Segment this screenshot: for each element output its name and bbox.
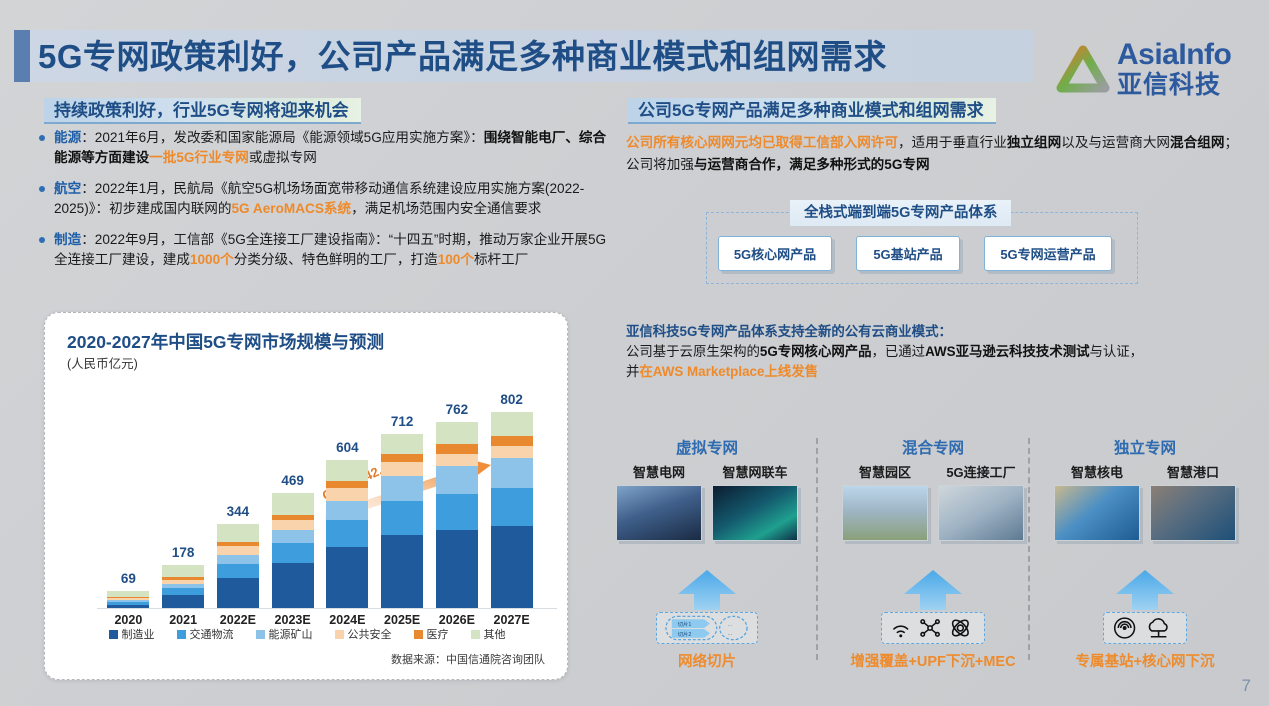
chart-x-axis	[97, 608, 557, 609]
legend-label: 其他	[484, 629, 506, 641]
bullet-lead: 制造	[54, 232, 81, 247]
logo-wordmark: AsiaInfo 亚信科技	[1117, 39, 1231, 99]
coverage-upf-mec-icons	[890, 616, 976, 640]
column-title: 虚拟专网	[604, 436, 810, 458]
thumbnail-caption: 智慧港口	[1150, 462, 1236, 481]
chart-legend: 制造业交通物流能源矿山公共安全医疗其他	[45, 625, 569, 643]
thumbnail-caption: 智慧电网	[616, 462, 702, 481]
header-accent-tab	[14, 30, 30, 82]
chart-bar-2024E: 604	[326, 460, 368, 608]
bar-segment-其他	[162, 565, 204, 578]
product-box-operations[interactable]: 5G专网运营产品	[984, 236, 1112, 271]
bar-value-label: 604	[312, 440, 382, 455]
chart-bar-2021: 178	[162, 565, 204, 608]
bar-segment-制造业	[491, 526, 533, 608]
bar-segment-交通物流	[326, 520, 368, 547]
bullet-text: 能源：2021年6月，发改委和国家能源局《能源领域5G应用实施方案》：围绕智能电…	[54, 130, 606, 165]
product-box-base-station[interactable]: 5G基站产品	[856, 236, 960, 271]
chart-bar-2026E: 762	[436, 422, 478, 608]
bar-segment-制造业	[162, 595, 204, 608]
thumbnail-item[interactable]: 智慧核电	[1054, 462, 1140, 541]
bar-segment-公共安全	[272, 520, 314, 530]
chart-title: 2020-2027年中国5G专网市场规模与预测	[67, 329, 384, 354]
up-arrow-icon	[1114, 570, 1176, 610]
bullet-dot	[39, 237, 45, 243]
policy-bullet-0: 能源：2021年6月，发改委和国家能源局《能源领域5G应用实施方案》：围绕智能电…	[30, 128, 615, 168]
cloud-line-3: 并在AWS Marketplace上线发售	[626, 362, 1238, 382]
bar-value-label: 178	[148, 545, 218, 560]
stacked-bar	[272, 493, 314, 608]
bar-segment-制造业	[381, 535, 423, 608]
legend-label: 能源矿山	[269, 629, 313, 641]
bar-segment-公共安全	[217, 546, 259, 555]
bar-segment-制造业	[217, 578, 259, 608]
thumbnail-item[interactable]: 智慧电网	[616, 462, 702, 541]
stacked-bar	[381, 434, 423, 608]
cloud-line-2: 公司基于云原生架构的5G专网核心网产品，已通过AWS亚马逊云科技技术测试与认证，	[626, 342, 1238, 362]
stacked-bar	[217, 524, 259, 608]
smart-factory-photo	[938, 485, 1024, 541]
bar-segment-制造业	[326, 547, 368, 608]
column-thumbnails: 智慧核电智慧港口	[1054, 462, 1236, 541]
legend-label: 公共安全	[348, 629, 392, 641]
bar-segment-交通物流	[272, 543, 314, 564]
chart-source-note: 数据来源：中国信通院咨询团队	[391, 651, 545, 667]
bar-segment-交通物流	[217, 564, 259, 578]
stacked-bar	[436, 422, 478, 608]
left-section-heading: 持续政策利好，行业5G专网将迎来机会	[44, 98, 361, 124]
network-slicing-icon-box[interactable]: 切片1切片2......	[656, 612, 758, 644]
chart-bar-2020: 69	[107, 591, 149, 608]
bar-segment-医疗	[436, 444, 478, 454]
network-column-2: 独立专网智慧核电智慧港口专属基站+核心网下沉	[1042, 436, 1248, 458]
legend-item-交通物流: 交通物流	[177, 626, 234, 642]
legend-swatch	[335, 630, 344, 639]
policy-bullet-list: 能源：2021年6月，发改委和国家能源局《能源领域5G应用实施方案》：围绕智能电…	[30, 128, 615, 281]
bar-segment-其他	[217, 524, 259, 542]
bullet-text: 制造：2022年9月，工信部《5G全连接工厂建设指南》：“十四五”时期，推动万家…	[54, 232, 606, 267]
slide-header: 5G专网政策利好，公司产品满足多种商业模式和组网需求 AsiaInfo 亚信科技	[0, 22, 1269, 90]
chart-bar-2022E: 344	[217, 524, 259, 608]
bar-segment-制造业	[272, 563, 314, 608]
bar-value-label: 344	[203, 504, 273, 519]
network-slicing-icon: 切片1切片2......	[665, 615, 749, 641]
legend-item-公共安全: 公共安全	[335, 626, 392, 642]
thumbnail-caption: 5G连接工厂	[938, 462, 1024, 481]
legend-label: 交通物流	[190, 629, 234, 641]
product-system-title: 全栈式端到端5G专网产品体系	[790, 200, 1011, 226]
bar-segment-能源矿山	[491, 458, 533, 488]
basestation-corenetwork-icons	[1112, 616, 1178, 640]
legend-item-其他: 其他	[471, 626, 506, 642]
right-section-heading: 公司5G专网产品满足多种商业模式和组网需求	[628, 98, 996, 124]
bar-segment-公共安全	[491, 446, 533, 458]
stacked-bar	[162, 565, 204, 608]
bar-segment-能源矿山	[436, 466, 478, 493]
column-footer-label: 网络切片	[604, 650, 810, 671]
asiainfo-logo: AsiaInfo 亚信科技	[1055, 40, 1260, 102]
thumbnail-caption: 智慧园区	[842, 462, 928, 481]
svg-text:...: ...	[728, 631, 733, 637]
bar-segment-能源矿山	[381, 476, 423, 501]
bullet-text: 航空：2022年1月，民航局《航空5G机场场面宽带移动通信系统建设应用实施方案(…	[54, 181, 584, 216]
column-thumbnails: 智慧电网智慧网联车	[616, 462, 798, 541]
network-type-columns: 虚拟专网智慧电网智慧网联车切片1切片2......网络切片混合专网智慧园区5G连…	[604, 436, 1248, 684]
bar-value-label: 802	[477, 392, 547, 407]
thumbnail-item[interactable]: 智慧园区	[842, 462, 928, 541]
svg-text:切片2: 切片2	[678, 630, 692, 638]
stacked-bar	[491, 412, 533, 608]
network-column-1: 混合专网智慧园区5G连接工厂增强覆盖+UPF下沉+MEC	[830, 436, 1036, 458]
bar-segment-交通物流	[162, 588, 204, 595]
chart-bar-2027E: 802	[491, 412, 533, 608]
legend-label: 制造业	[122, 629, 155, 641]
column-thumbnails: 智慧园区5G连接工厂	[842, 462, 1024, 541]
legend-item-能源矿山: 能源矿山	[256, 626, 313, 642]
legend-swatch	[256, 630, 265, 639]
bar-segment-公共安全	[326, 488, 368, 502]
cloud-l2-b: 5G专网核心网产品	[760, 344, 872, 359]
logo-text-cn: 亚信科技	[1117, 71, 1231, 99]
bar-segment-其他	[491, 412, 533, 436]
cloud-l3-b: 在AWS Marketplace上线发售	[639, 364, 818, 379]
bar-segment-医疗	[491, 436, 533, 446]
legend-label: 医疗	[427, 629, 449, 641]
coverage-upf-mec-icons-box[interactable]	[881, 612, 985, 644]
cloud-l2-a: 公司基于云原生架构的	[626, 344, 760, 359]
bar-segment-能源矿山	[217, 555, 259, 564]
chart-bar-2025E: 712	[381, 434, 423, 608]
bullet-lead: 航空	[54, 181, 81, 196]
chart-subtitle: (人民币亿元)	[67, 353, 138, 372]
cloud-l2-c: ，已通过	[872, 344, 926, 359]
legend-item-制造业: 制造业	[109, 626, 155, 642]
stacked-bar	[326, 460, 368, 608]
column-footer-label: 增强覆盖+UPF下沉+MEC	[830, 650, 1036, 671]
bar-segment-制造业	[436, 530, 478, 608]
page-number: 7	[1242, 676, 1251, 696]
network-column-0: 虚拟专网智慧电网智慧网联车切片1切片2......网络切片	[604, 436, 810, 458]
smart-campus-photo	[842, 485, 928, 541]
bar-segment-交通物流	[381, 501, 423, 535]
logo-text-en: AsiaInfo	[1117, 39, 1231, 71]
bar-value-label: 69	[93, 571, 163, 586]
right-intro-paragraph: 公司所有核心网网元均已取得工信部入网许可，适用于垂直行业独立组网以及与运营商大网…	[626, 132, 1238, 176]
thumbnail-caption: 智慧核电	[1054, 462, 1140, 481]
bullet-lead: 能源	[54, 130, 81, 145]
bar-segment-其他	[436, 422, 478, 445]
policy-bullet-1: 航空：2022年1月，民航局《航空5G机场场面宽带移动通信系统建设应用实施方案(…	[30, 179, 615, 219]
public-cloud-paragraph: 亚信科技5G专网产品体系支持全新的公有云商业模式： 公司基于云原生架构的5G专网…	[626, 322, 1238, 382]
cloud-l3-a: 并	[626, 364, 639, 379]
bar-segment-交通物流	[491, 488, 533, 526]
legend-swatch	[177, 630, 186, 639]
market-forecast-chart-card: 2020-2027年中国5G专网市场规模与预测 (人民币亿元) CAGR: 42…	[44, 312, 568, 680]
bar-value-label: 469	[258, 473, 328, 488]
thumbnail-item[interactable]: 5G连接工厂	[938, 462, 1024, 541]
bar-segment-其他	[381, 434, 423, 454]
bar-segment-公共安全	[436, 454, 478, 466]
bar-segment-交通物流	[436, 494, 478, 530]
thumbnail-item[interactable]: 智慧网联车	[712, 462, 798, 541]
chart-plot-area: CAGR: 42.0% 69178344469604712762802	[75, 375, 545, 609]
up-arrow-icon	[676, 570, 738, 610]
cloud-l2-e: 与认证，	[1090, 344, 1144, 359]
bar-segment-制造业	[107, 605, 149, 608]
column-title: 独立专网	[1042, 436, 1248, 458]
column-divider-0	[816, 438, 818, 660]
legend-swatch	[414, 630, 423, 639]
cloud-headline: 亚信科技5G专网产品体系支持全新的公有云商业模式：	[626, 322, 1238, 342]
thumbnail-item[interactable]: 智慧港口	[1150, 462, 1236, 541]
bar-segment-能源矿山	[326, 501, 368, 520]
bar-segment-能源矿山	[272, 530, 314, 542]
column-title: 混合专网	[830, 436, 1036, 458]
bar-segment-其他	[326, 460, 368, 481]
product-box-core-network[interactable]: 5G核心网产品	[718, 236, 832, 271]
basestation-corenetwork-icons-box[interactable]	[1103, 612, 1187, 644]
stacked-bar	[107, 591, 149, 608]
nuclear-plant-photo	[1054, 485, 1140, 541]
up-arrow-icon	[902, 570, 964, 610]
page-title: 5G专网政策利好，公司产品满足多种商业模式和组网需求	[38, 36, 1028, 78]
bar-segment-其他	[272, 493, 314, 515]
column-footer-label: 专属基站+核心网下沉	[1042, 650, 1248, 671]
power-grid-photo	[616, 485, 702, 541]
svg-text:切片1: 切片1	[678, 620, 692, 628]
cloud-l2-d: AWS亚马逊云科技技术测试	[925, 344, 1089, 359]
legend-item-医疗: 医疗	[414, 626, 449, 642]
column-divider-1	[1028, 438, 1030, 660]
thumbnail-caption: 智慧网联车	[712, 462, 798, 481]
bullet-dot	[39, 186, 45, 192]
legend-swatch	[471, 630, 480, 639]
legend-swatch	[109, 630, 118, 639]
connected-car-photo	[712, 485, 798, 541]
svg-text:...: ...	[728, 622, 733, 628]
asiainfo-ring-logo-icon	[1055, 44, 1111, 100]
chart-bar-2023E: 469	[272, 493, 314, 608]
policy-bullet-2: 制造：2022年9月，工信部《5G全连接工厂建设指南》：“十四五”时期，推动万家…	[30, 230, 615, 270]
bullet-dot	[39, 135, 45, 141]
bar-segment-公共安全	[381, 462, 423, 476]
smart-port-photo	[1150, 485, 1236, 541]
bar-segment-医疗	[381, 454, 423, 462]
